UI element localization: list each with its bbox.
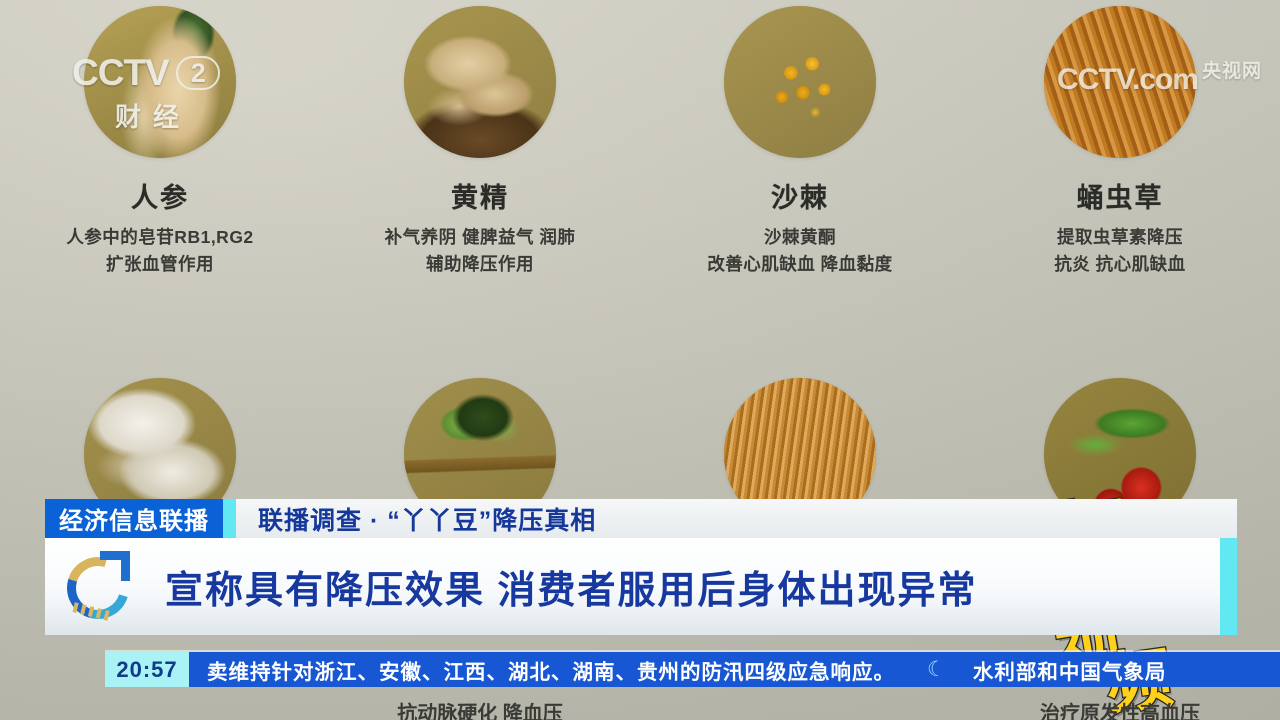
banner-right-edge [1220,538,1237,635]
ginseng-root-photo [84,6,236,158]
accent-bar [223,499,236,538]
ticker-news-strip: 卖维持针对浙江、安徽、江西、湖北、湖南、贵州的防汛四级应急响应。 ☾ 水利部和中… [189,652,1280,687]
clipped-label: 抗动脉硬化 降血压 [320,697,640,720]
clipped-label [640,697,960,720]
ticker-source-text: 水利部和中国气象局 [973,655,1167,685]
cordyceps-militaris-photo [1044,6,1196,158]
news-ticker: 20:57 卖维持针对浙江、安徽、江西、湖北、湖南、贵州的防汛四级应急响应。 ☾… [105,652,1280,687]
ticker-clock: 20:57 [105,652,189,687]
herb-description: 提取虫草素降压 抗炎 抗心肌缺血 [1054,224,1185,278]
lower-third-banner: 经济信息联播 联播调查 · “丫丫豆”降压真相 宣称具有降压效果 消费者服用后身… [45,499,1237,635]
row2-clipped-labels: 抗动脉硬化 降血压 治疗原发性高血压 [0,697,1280,720]
polygonatum-slices-photo [404,6,556,158]
herb-name: 人参 [131,176,189,215]
herb-name: 沙棘 [771,176,829,215]
circular-arrow-logo-icon [59,545,143,629]
herb-cell-shaji: 沙棘 沙棘黄酮 改善心肌缺血 降血黏度 [640,6,960,278]
ticker-news-text: 卖维持针对浙江、安徽、江西、湖北、湖南、贵州的防汛四级应急响应。 [207,655,895,685]
herb-cell-yongchongcao: 蛹虫草 提取虫草素降压 抗炎 抗心肌缺血 [960,6,1280,278]
banner-headline-band: 宣称具有降压效果 消费者服用后身体出现异常 [45,538,1237,635]
clipped-label [0,697,320,720]
herb-name: 黄精 [451,176,509,215]
herb-name: 蛹虫草 [1077,176,1164,215]
program-name-badge: 经济信息联播 [45,499,223,538]
herb-grid-row-1: 人参 人参中的皂苷RB1,RG2 扩张血管作用 黄精 补气养阴 健脾益气 润肺 … [0,6,1280,278]
seabuckthorn-berries-photo [724,6,876,158]
herb-description: 沙棘黄酮 改善心肌缺血 降血黏度 [707,224,892,278]
herb-cell-huangjing: 黄精 补气养阴 健脾益气 润肺 辅助降压作用 [320,6,640,278]
herb-description: 人参中的皂苷RB1,RG2 扩张血管作用 [66,224,253,278]
herb-cell-ginseng: 人参 人参中的皂苷RB1,RG2 扩张血管作用 [0,6,320,278]
clipped-label: 治疗原发性高血压 [960,697,1280,720]
moon-icon: ☾ [927,657,947,682]
segment-title: 联播调查 · “丫丫豆”降压真相 [236,499,1237,538]
headline-text: 宣称具有降压效果 消费者服用后身体出现异常 [165,559,978,614]
herb-description: 补气养阴 健脾益气 润肺 辅助降压作用 [385,224,576,278]
banner-top-band: 经济信息联播 联播调查 · “丫丫豆”降压真相 [45,499,1237,538]
